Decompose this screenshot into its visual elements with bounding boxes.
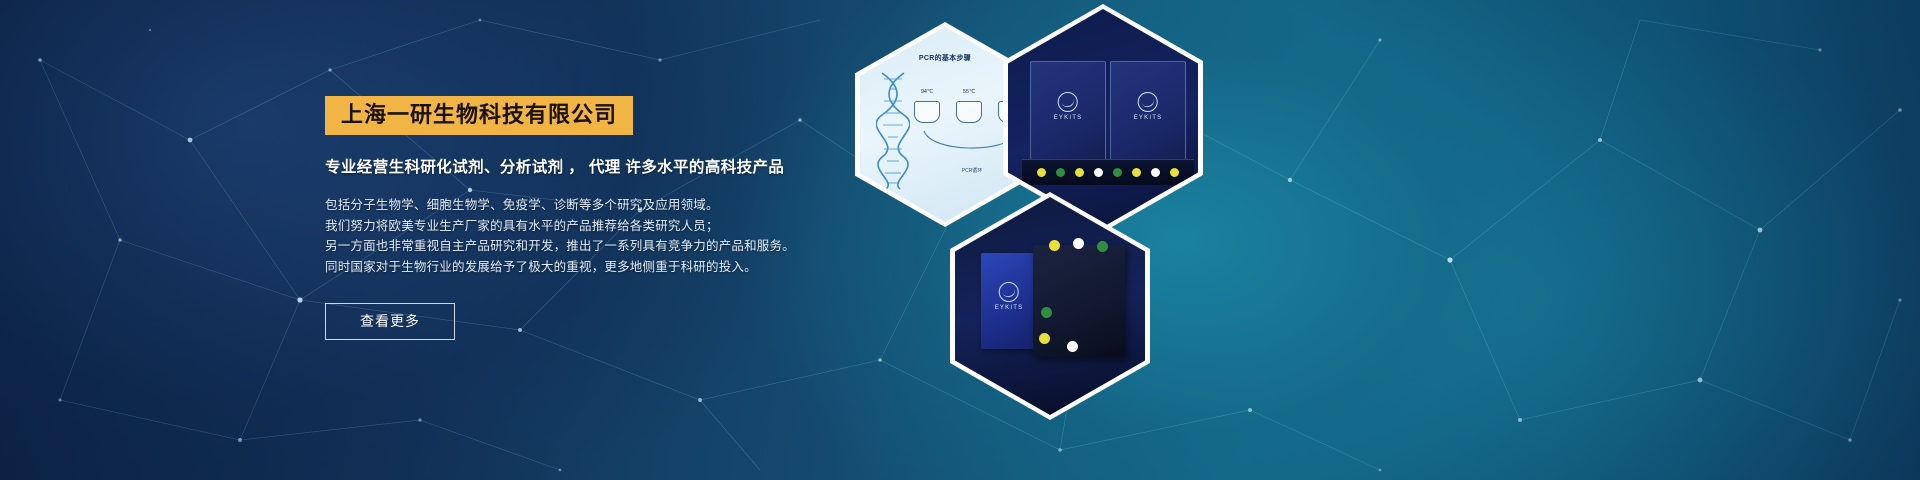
kit-brand-logo: EYKITS xyxy=(1134,92,1163,121)
vial-icon xyxy=(1067,341,1078,352)
view-more-button[interactable]: 查看更多 xyxy=(325,303,455,340)
pack-brand-logo: EYKITS xyxy=(995,282,1024,311)
pack-brand-label: EYKITS xyxy=(995,305,1024,311)
vial-icon xyxy=(1039,333,1050,344)
cta-wrapper: 查看更多 xyxy=(325,277,845,340)
hero-subtitle: 专业经营生科研化试剂、分析试剂 ， 代理 许多水平的高科技产品 xyxy=(325,155,845,177)
brand-mark-icon xyxy=(999,282,1019,302)
brand-mark-icon xyxy=(1058,92,1078,112)
vial-icon xyxy=(1170,168,1179,177)
company-name-badge: 上海一研生物科技有限公司 xyxy=(325,96,633,135)
product-pack-hexagon[interactable]: EYKITS xyxy=(950,192,1150,420)
pack-hexagon-inner: EYKITS xyxy=(955,197,1145,415)
description-line-1: 包括分子生物学、细胞生物学、免疫学、诊断等多个研究及应用领域。 xyxy=(325,195,845,216)
pcr-step-1-label: 94℃ xyxy=(914,89,940,95)
pcr-step-2: 55℃ xyxy=(956,101,982,127)
pcr-tube-icon xyxy=(956,101,982,123)
kit-brand-label: EYKITS xyxy=(1134,115,1163,121)
vial-icon xyxy=(1073,238,1084,249)
hexagon-image-cluster: PCR的基本步骤 xyxy=(855,0,1275,480)
brand-mark-icon xyxy=(1138,92,1158,112)
vial-icon xyxy=(1094,168,1103,177)
kit-brand-label: EYKITS xyxy=(1054,115,1083,121)
hero-banner: 上海一研生物科技有限公司 专业经营生科研化试剂、分析试剂 ， 代理 许多水平的高… xyxy=(0,0,1920,480)
vial-icon xyxy=(1097,241,1108,252)
vial-icon xyxy=(1132,168,1141,177)
dna-helix-icon xyxy=(876,71,910,191)
product-card: EYKITS xyxy=(981,253,1037,349)
vial-icon xyxy=(1041,307,1052,318)
kit-vial-base xyxy=(1022,159,1194,185)
vial-icon xyxy=(1075,168,1084,177)
vial-icon xyxy=(1113,168,1122,177)
hero-content: 上海一研生物科技有限公司 专业经营生科研化试剂、分析试剂 ， 代理 许多水平的高… xyxy=(325,96,845,340)
vial-icon xyxy=(1037,168,1046,177)
vial-icon xyxy=(1151,168,1160,177)
pcr-step-2-label: 55℃ xyxy=(956,89,982,95)
vial-icon xyxy=(1049,240,1060,251)
pcr-tube-icon xyxy=(914,101,940,123)
kits-hexagon-inner: EYKITS EYKITS xyxy=(1008,9,1198,227)
description-line-4: 同时国家对于生物行业的发展给予了极大的重视，更多地侧重于科研的投入。 xyxy=(325,257,845,278)
description-line-3: 另一方面也非常重视自主产品研究和开发，推出了一系列具有竞争力的产品和服务。 xyxy=(325,236,845,257)
kit-brand-logo: EYKITS xyxy=(1054,92,1083,121)
hero-description: 包括分子生物学、细胞生物学、免疫学、诊断等多个研究及应用领域。 我们努力将欧美专… xyxy=(325,195,845,277)
pcr-step-1: 94℃ xyxy=(914,101,940,127)
product-slab xyxy=(1033,245,1125,357)
kit-boxes-hexagon[interactable]: EYKITS EYKITS xyxy=(1003,4,1203,232)
vial-icon xyxy=(1056,168,1065,177)
description-line-2: 我们努力将欧美专业生产厂家的具有水平的产品推荐给各类研究人员； xyxy=(325,216,845,237)
